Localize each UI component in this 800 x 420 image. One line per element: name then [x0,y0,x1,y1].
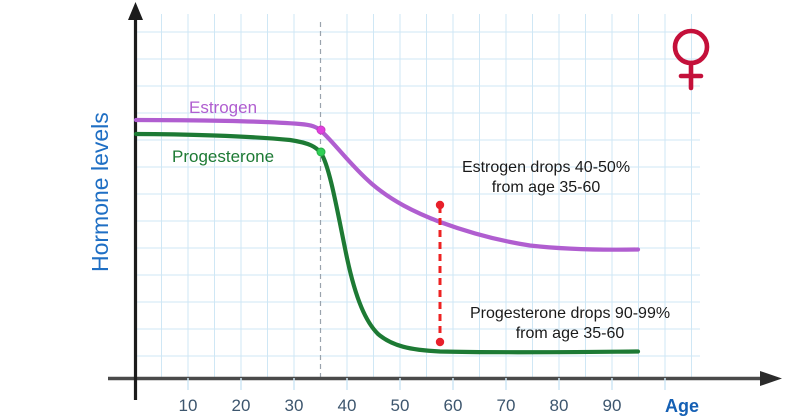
progesterone-annotation-line2: from age 35-60 [516,325,625,342]
estrogen-annotation-line2: from age 35-60 [492,179,601,196]
chart-canvas: 10 20 30 40 50 60 70 80 90 Age Hormone l… [0,0,800,420]
y-axis-title: Hormone levels [87,112,113,272]
grid-vertical [162,14,692,378]
estrogen-marker-age35 [317,126,325,134]
x-tick-50: 50 [391,396,410,415]
x-axis-title: Age [665,396,699,416]
estrogen-series-label: Estrogen [189,98,257,117]
x-tick-40: 40 [338,396,357,415]
x-tick-90: 90 [603,396,622,415]
x-tick-70: 70 [497,396,516,415]
estrogen-marker-age60 [436,201,444,209]
x-tick-60: 60 [444,396,463,415]
hormone-levels-chart: 10 20 30 40 50 60 70 80 90 Age Hormone l… [0,0,800,420]
progesterone-marker-age60 [436,338,444,346]
x-tick-30: 30 [285,396,304,415]
x-tick-labels: 10 20 30 40 50 60 70 80 90 [179,396,622,415]
progesterone-drop-annotation: Progesterone drops 90-99% from age 35-60 [470,305,670,342]
x-tick-10: 10 [179,396,198,415]
progesterone-marker-age35 [317,148,325,156]
x-tick-20: 20 [232,396,251,415]
y-axis-arrowhead [128,2,143,20]
progesterone-series-label: Progesterone [172,147,274,166]
estrogen-annotation-line1: Estrogen drops 40-50% [462,159,630,176]
estrogen-drop-annotation: Estrogen drops 40-50% from age 35-60 [462,159,630,196]
grid-lines [135,14,700,378]
progesterone-annotation-line1: Progesterone drops 90-99% [470,305,670,322]
x-tick-80: 80 [550,396,569,415]
x-axis-arrowhead [760,371,782,386]
